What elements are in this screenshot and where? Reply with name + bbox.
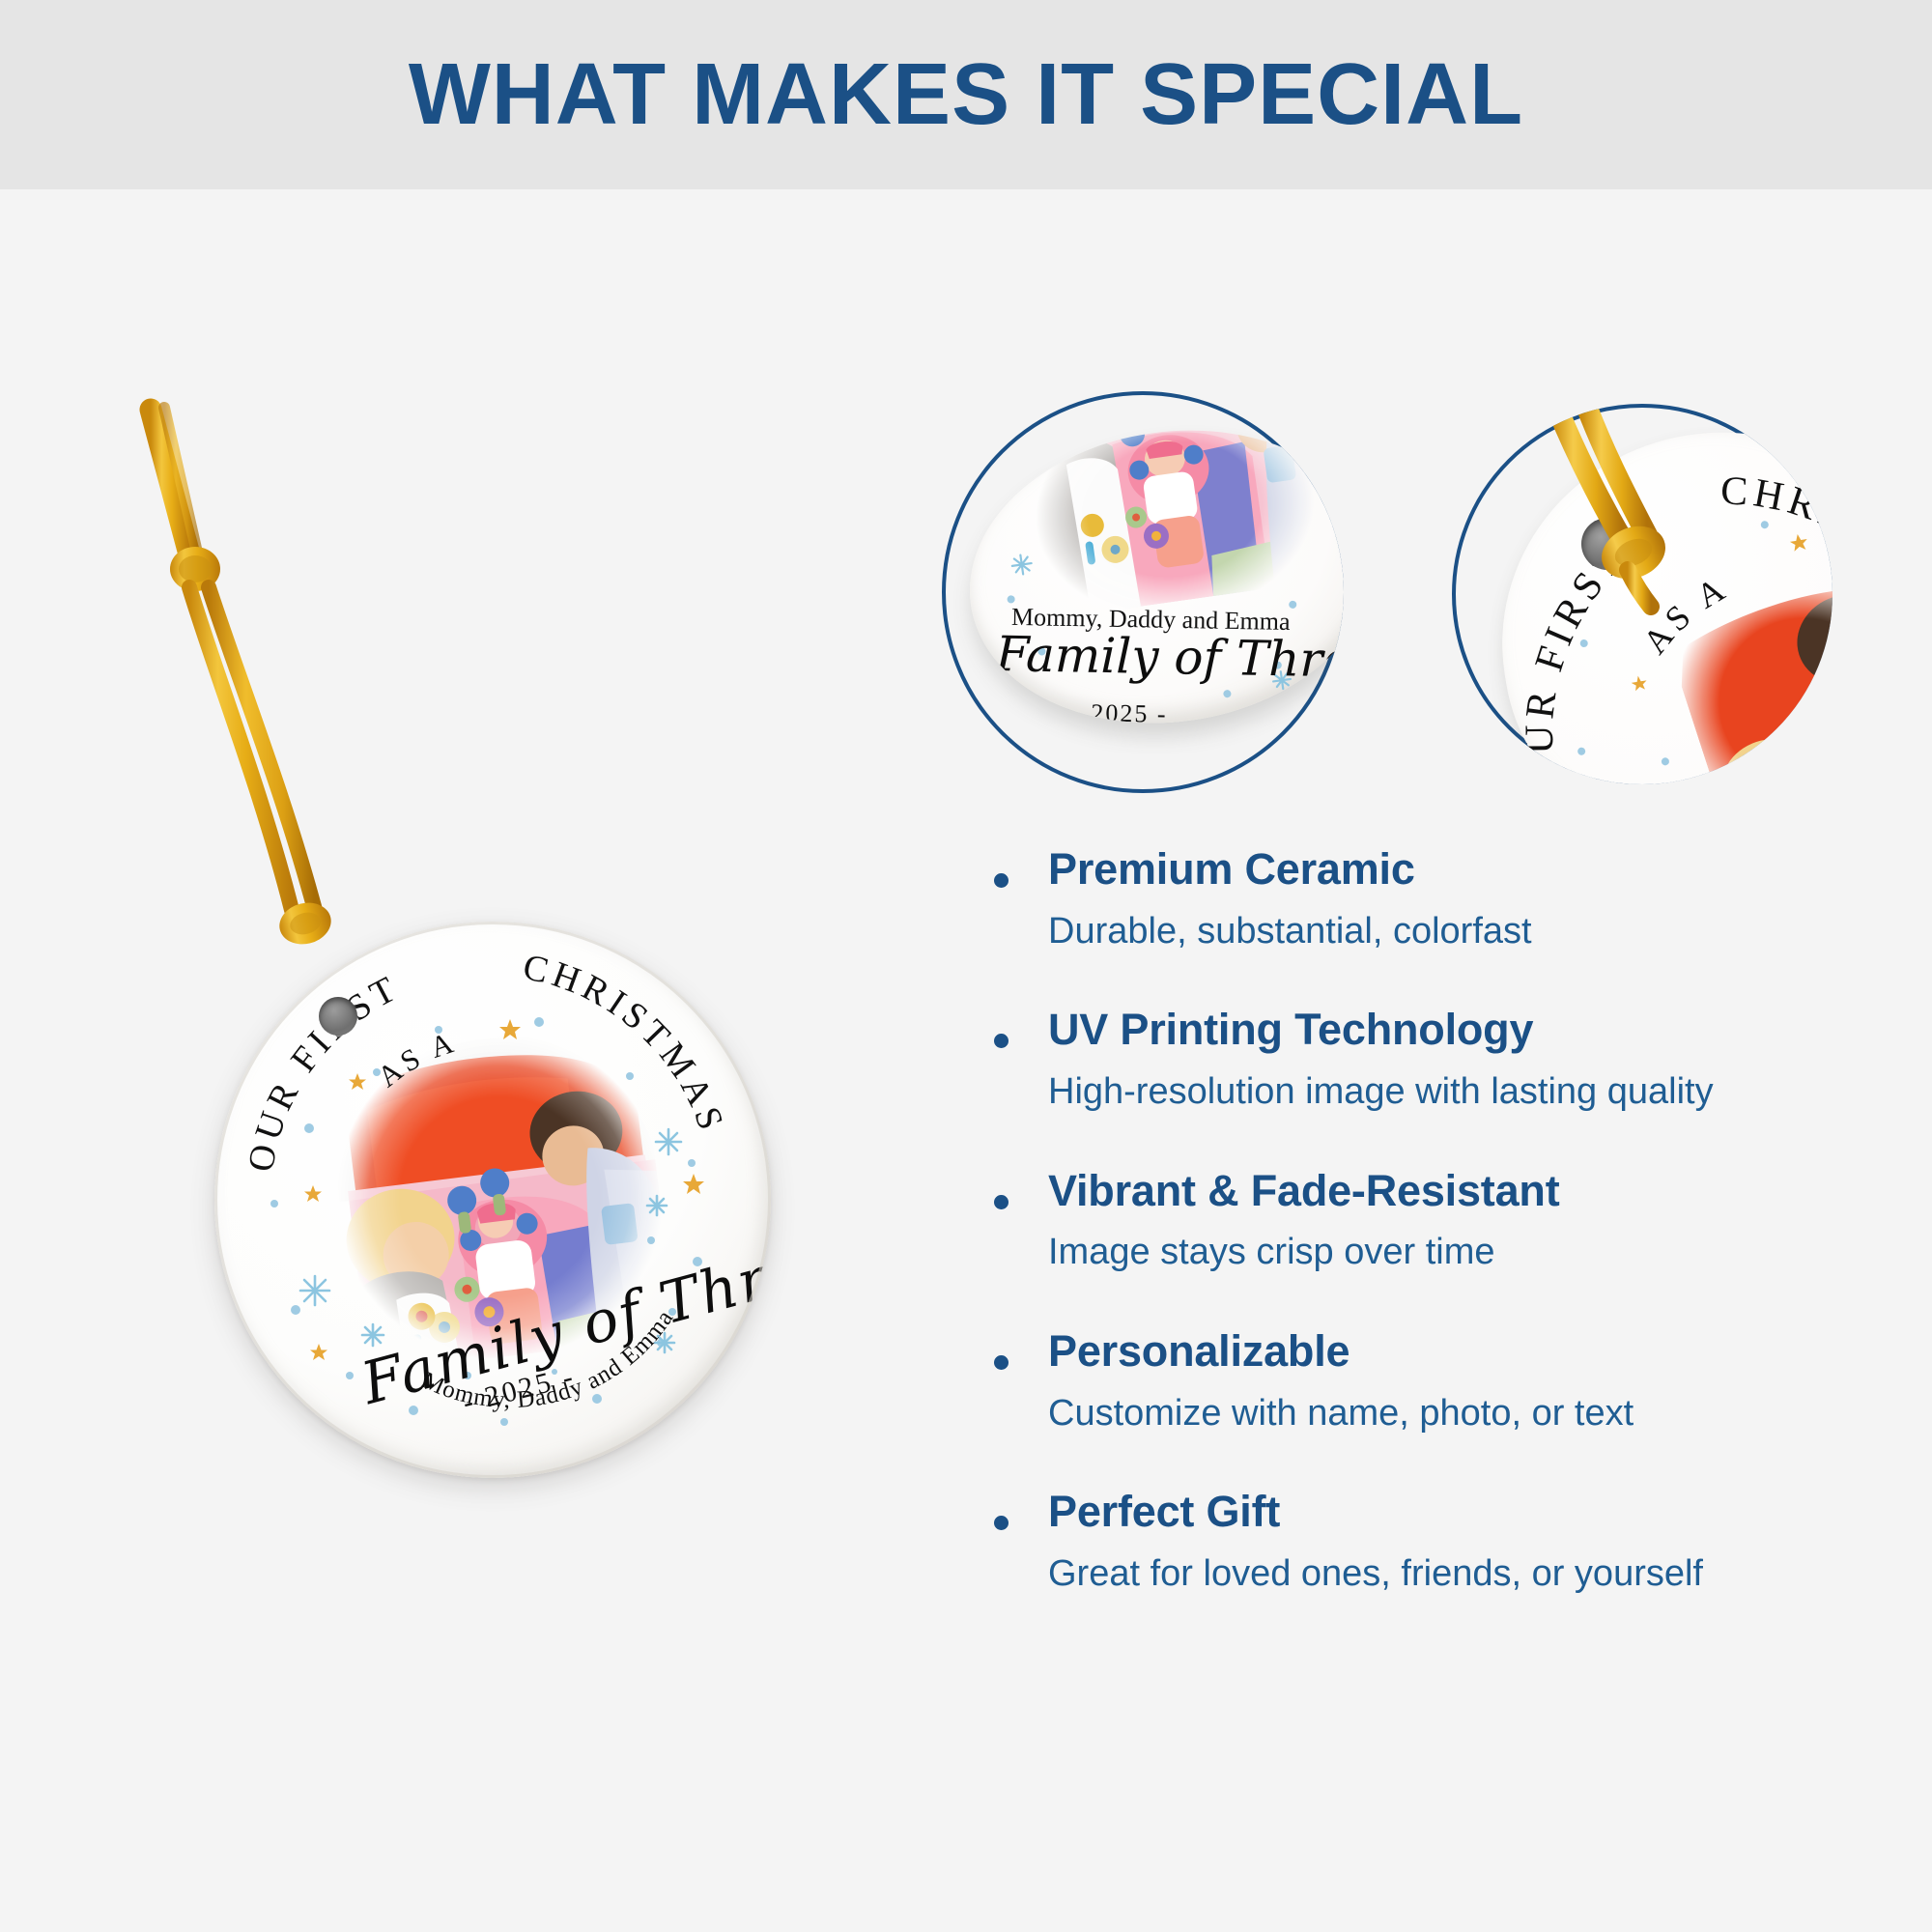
closeup-cord [1481,404,1732,622]
angled-script-text: Family of Three [995,626,1344,689]
bullet-icon [994,1034,1009,1048]
angled-ornament-disc: Mommy, Daddy and Emma Family of Three - … [951,405,1344,749]
feature-item-premium-ceramic: Premium Ceramic Durable, substantial, co… [990,844,1860,953]
bullet-icon [994,1355,1009,1370]
detail-view-closeup[interactable]: UR FIRST CHRISTM AS A [1452,404,1833,784]
feature-item-uv-printing: UV Printing Technology High-resolution i… [990,1005,1860,1114]
header-band: WHAT MAKES IT SPECIAL [0,0,1932,189]
feature-subtitle: Image stays crisp over time [1048,1231,1860,1275]
feature-item-vibrant-fade-resistant: Vibrant & Fade-Resistant Image stays cri… [990,1166,1860,1275]
feature-title: Premium Ceramic [1048,844,1860,895]
angled-year-text: - 2025 - [1072,698,1168,729]
detail-view-closeup-clip: UR FIRST CHRISTM AS A [1452,404,1833,784]
product-showcase-stage: OUR FIRST CHRISTMAS AS A Mommy, Daddy an… [0,189,1932,1932]
main-ornament[interactable]: OUR FIRST CHRISTMAS AS A Mommy, Daddy an… [214,922,771,1478]
feature-list: Premium Ceramic Durable, substantial, co… [990,844,1860,1597]
feature-title: Personalizable [1048,1326,1860,1377]
bullet-icon [994,1516,1009,1530]
feature-title: Perfect Gift [1048,1487,1860,1537]
cord-svg [126,334,435,972]
angled-decorations [951,405,1344,749]
ornament-disc: OUR FIRST CHRISTMAS AS A Mommy, Daddy an… [214,922,771,1478]
feature-subtitle: High-resolution image with lasting quali… [1048,1070,1860,1115]
feature-title: Vibrant & Fade-Resistant [1048,1166,1860,1216]
detail-view-angled-clip: Mommy, Daddy and Emma Family of Three - … [942,391,1344,793]
bullet-icon [994,1195,1009,1209]
feature-subtitle: Great for loved ones, friends, or yourse… [1048,1552,1860,1597]
ornament-cord [126,334,435,972]
page-title: WHAT MAKES IT SPECIAL [409,45,1523,145]
detail-view-angled[interactable]: Mommy, Daddy and Emma Family of Three - … [942,391,1344,793]
feature-subtitle: Customize with name, photo, or text [1048,1392,1860,1436]
ornament-hole [319,997,357,1036]
bullet-icon [994,873,1009,888]
feature-title: UV Printing Technology [1048,1005,1860,1055]
feature-subtitle: Durable, substantial, colorfast [1048,910,1860,954]
feature-item-personalizable: Personalizable Customize with name, phot… [990,1326,1860,1435]
feature-item-perfect-gift: Perfect Gift Great for loved ones, frien… [990,1487,1860,1596]
